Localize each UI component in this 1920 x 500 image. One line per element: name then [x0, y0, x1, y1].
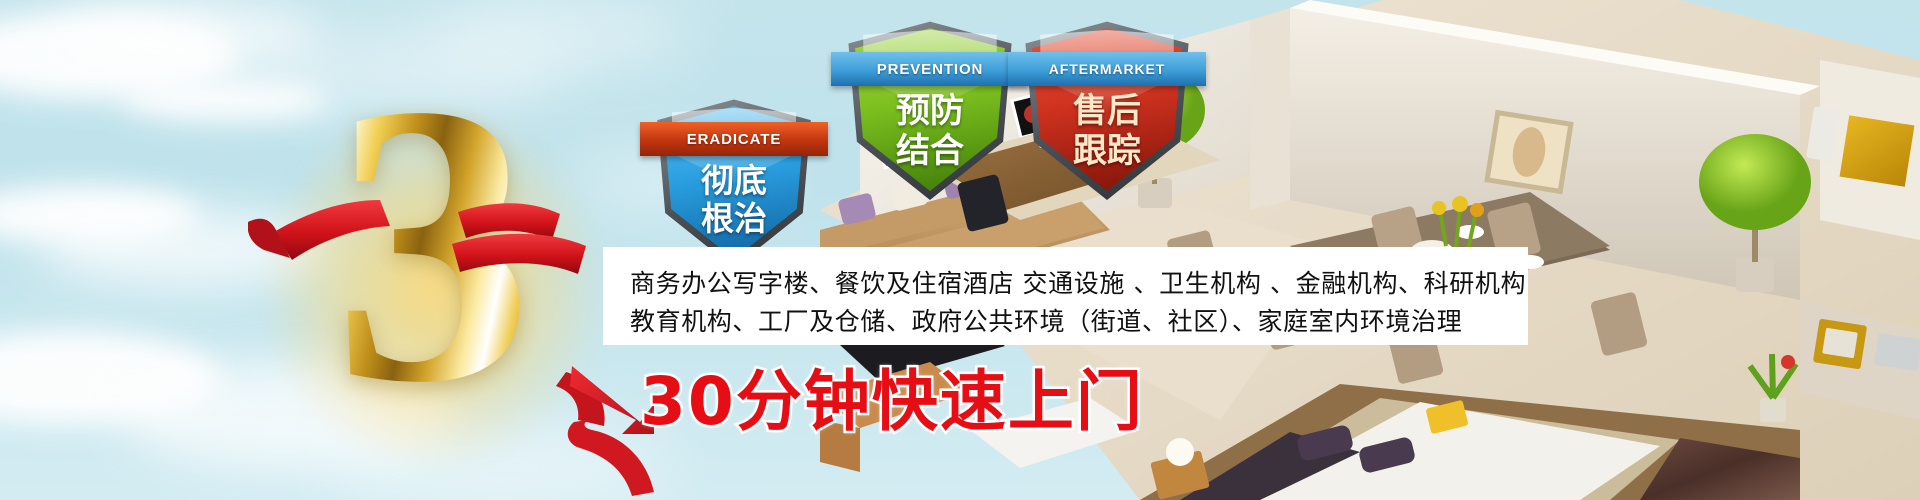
plant-pot — [1760, 398, 1786, 422]
shield-chinese-line2: 跟踪 — [1022, 134, 1192, 169]
promo-banner: 3 — [0, 0, 1920, 500]
flower — [1470, 203, 1484, 217]
shield-english-label: ERADICATE — [687, 131, 782, 148]
kitchen-cabinet-gold — [1840, 115, 1915, 187]
plant-foliage — [1699, 134, 1811, 230]
shield-ribbon-band: PREVENTION — [831, 52, 1029, 86]
shield-chinese-line1: 预防 — [845, 94, 1015, 129]
shield-chinese-line2: 结合 — [845, 134, 1015, 169]
shield-ribbon-band: AFTERMARKET — [1008, 52, 1206, 86]
shield-prevention[interactable]: PREVENTION 预防 结合 — [845, 18, 1015, 200]
flower — [1781, 355, 1795, 369]
shield-eradicate[interactable]: ERADICATE 彻底 根治 — [654, 96, 814, 268]
shield-english-label: AFTERMARKET — [1049, 61, 1165, 77]
table-lamp — [1166, 438, 1194, 466]
partition-wall — [1250, 8, 1290, 210]
flower — [1452, 196, 1468, 212]
flower — [1432, 201, 1446, 215]
oven-window — [1822, 328, 1858, 359]
service-scope-panel: 商务办公写字楼、餐饮及住宿酒店 交通设施 、卫生机构 、金融机构、科研机构 教育… — [603, 247, 1528, 345]
headline-text: 30分钟快速上门 — [640, 348, 1144, 444]
shield-english-label: PREVENTION — [877, 61, 984, 78]
plant-pot — [1736, 258, 1774, 292]
shield-ribbon-band: ERADICATE — [640, 122, 828, 156]
shield-chinese-line1: 售后 — [1022, 94, 1192, 129]
service-scope-line-1: 商务办公写字楼、餐饮及住宿酒店 交通设施 、卫生机构 、金融机构、科研机构 — [630, 264, 1526, 300]
shield-chinese-line2: 根治 — [654, 202, 814, 236]
service-scope-line-2: 教育机构、工厂及仓储、政府公共环境（街道、社区）、家庭室内环境治理 — [630, 302, 1462, 338]
shield-chinese-line1: 彻底 — [654, 164, 814, 198]
shield-aftermarket[interactable]: AFTERMARKET 售后 跟踪 — [1022, 18, 1192, 200]
